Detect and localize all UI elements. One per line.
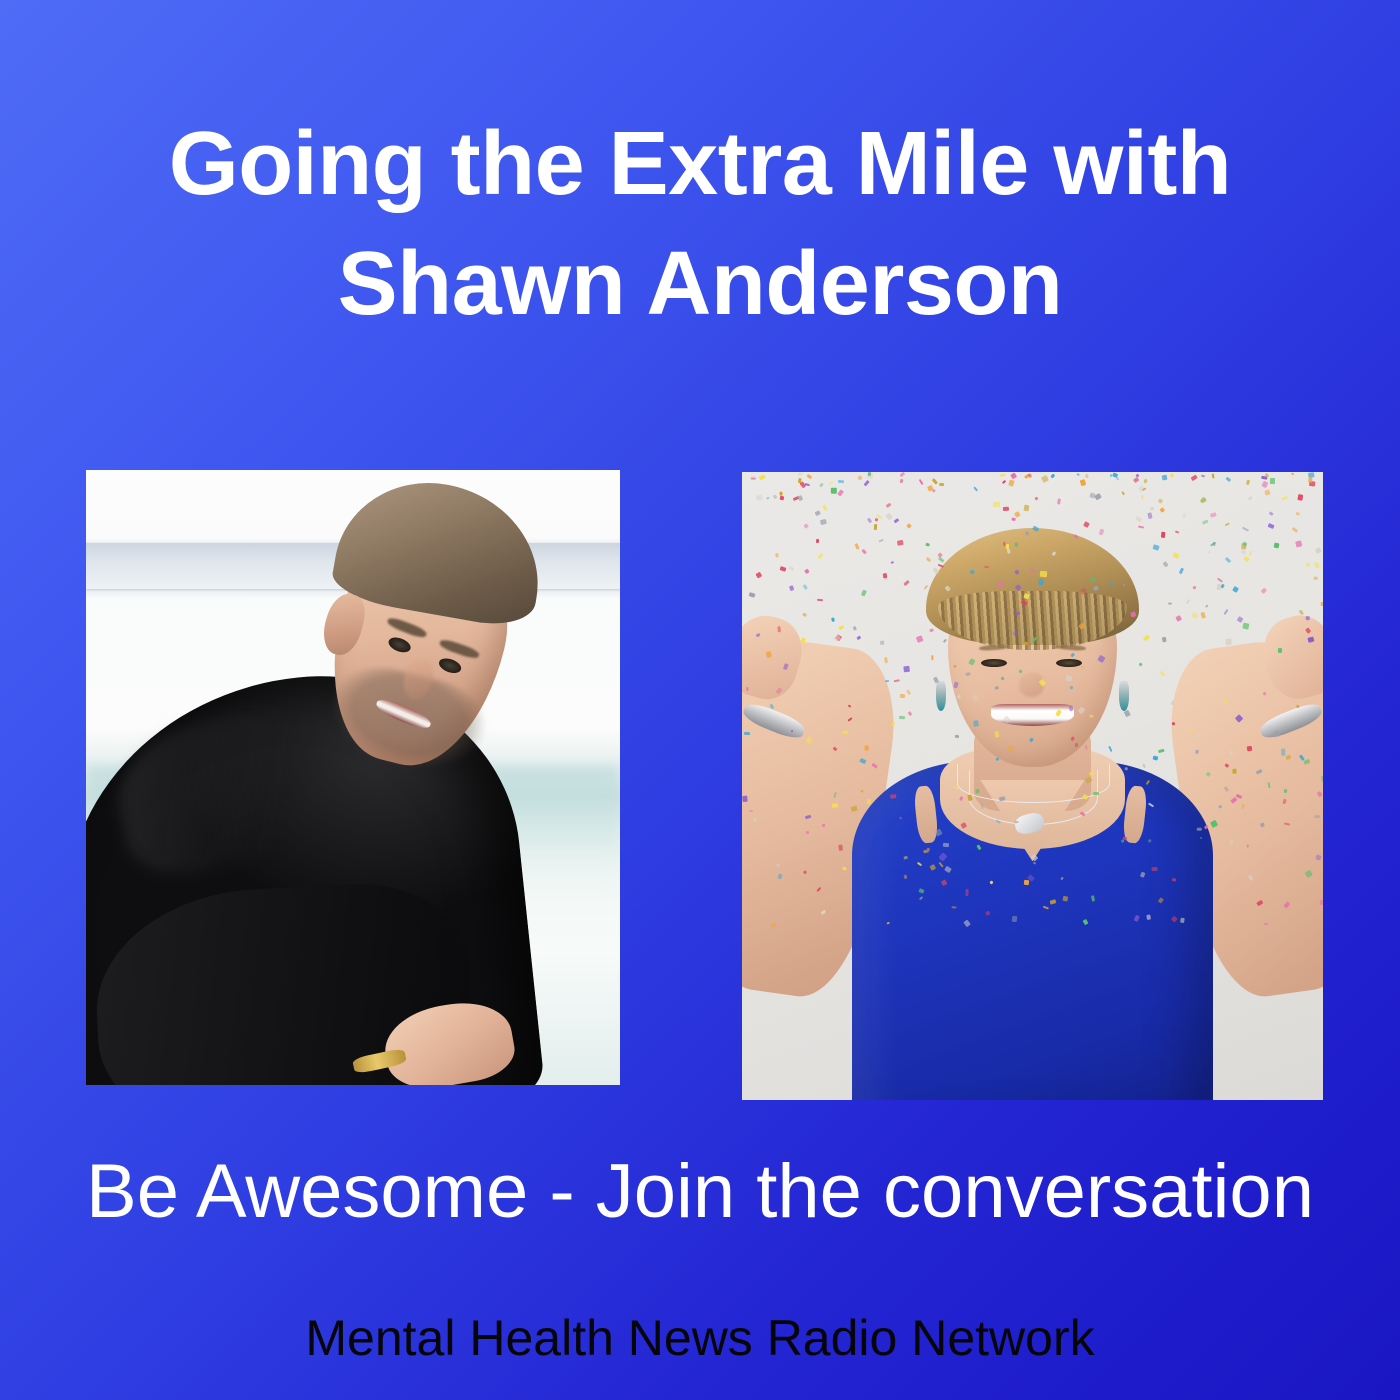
earring-right [1119, 681, 1129, 710]
woman-eye-left [981, 659, 1007, 667]
network-name: Mental Health News Radio Network [0, 1308, 1400, 1368]
woman-nose [1019, 672, 1045, 697]
title-line-2: Shawn Anderson [0, 224, 1400, 344]
guest-photo [742, 472, 1323, 1100]
shawn-anderson-photo [86, 470, 620, 1085]
photo-inner-left [86, 470, 620, 1085]
page-title: Going the Extra Mile with Shawn Anderson [0, 104, 1400, 344]
title-line-1: Going the Extra Mile with [0, 104, 1400, 224]
tagline: Be Awesome - Join the conversation [0, 1148, 1400, 1236]
woman-head [934, 541, 1132, 767]
earring-left [936, 681, 946, 710]
podcast-cover-art: Going the Extra Mile with Shawn Anderson [0, 0, 1400, 1400]
woman-eye-right [1056, 659, 1082, 667]
photo-inner-right [742, 472, 1323, 1100]
